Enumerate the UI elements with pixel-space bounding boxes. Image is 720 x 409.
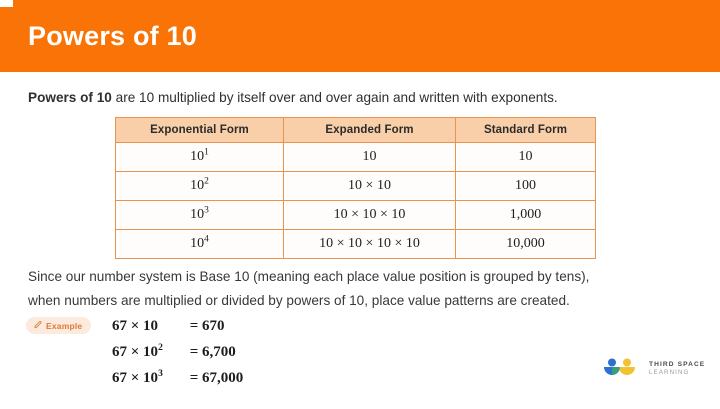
intro-bold-term: Powers of 10	[28, 90, 112, 105]
pencil-icon	[33, 321, 42, 330]
table-row: 101 10 10	[116, 143, 596, 172]
power-base: 10	[190, 207, 204, 222]
cell-exponential-form: 103	[116, 201, 284, 230]
equals-sign: =	[186, 370, 202, 387]
equation-result: 670	[202, 318, 225, 335]
equation-left-side: 67 × 102	[112, 344, 186, 361]
powers-of-ten-table: Exponential Form Expanded Form Standard …	[115, 117, 596, 259]
cell-exponential-form: 101	[116, 143, 284, 172]
third-space-learning-mark-icon	[601, 357, 643, 381]
intro-text: Powers of 10 are 10 multiplied by itself…	[28, 88, 698, 108]
power-exponent: 4	[204, 234, 209, 244]
table-header-row: Exponential Form Expanded Form Standard …	[116, 118, 596, 143]
cell-standard-form: 10,000	[456, 230, 596, 259]
page-title: Powers of 10	[28, 20, 197, 52]
power-exponent: 2	[204, 176, 209, 186]
cell-expanded-form: 10 × 10	[284, 172, 456, 201]
body-paragraph-line-2: when numbers are multiplied or divided b…	[28, 289, 708, 313]
page-header-bar: Powers of 10	[0, 0, 720, 72]
power-exponent: 3	[204, 205, 209, 215]
equation-lhs-base: 67 × 10	[112, 318, 158, 334]
equation-lhs-base: 67 × 10	[112, 370, 158, 386]
logo-wordmark: THIRD SPACE LEARNING	[649, 362, 705, 377]
column-header-expanded-form: Expanded Form	[284, 118, 456, 143]
power-base: 10	[190, 178, 204, 193]
cell-exponential-form: 104	[116, 230, 284, 259]
power-exponent: 1	[204, 147, 209, 157]
powers-table-container: Exponential Form Expanded Form Standard …	[115, 117, 595, 259]
equals-sign: =	[186, 344, 202, 361]
cell-standard-form: 1,000	[456, 201, 596, 230]
third-space-learning-logo: THIRD SPACE LEARNING	[601, 357, 705, 381]
example-badge-label: Example	[46, 321, 82, 331]
equation-lhs-exponent: 2	[158, 343, 163, 353]
equals-sign: =	[186, 318, 202, 335]
example-badge: Example	[26, 317, 91, 334]
cell-exponential-form: 102	[116, 172, 284, 201]
table-row: 103 10 × 10 × 10 1,000	[116, 201, 596, 230]
power-base: 10	[190, 236, 204, 251]
equation-left-side: 67 × 103	[112, 370, 186, 387]
intro-rest-text: are 10 multiplied by itself over and ove…	[112, 90, 558, 105]
example-equations: 67 × 10 = 670 67 × 102 = 6,700 67 × 103 …	[112, 318, 243, 396]
cell-standard-form: 10	[456, 143, 596, 172]
equation-row: 67 × 102 = 6,700	[112, 344, 243, 370]
logo-line-2: LEARNING	[649, 370, 705, 376]
equation-row: 67 × 103 = 67,000	[112, 370, 243, 396]
cell-expanded-form: 10	[284, 143, 456, 172]
equation-lhs-base: 67 × 10	[112, 344, 158, 360]
cell-expanded-form: 10 × 10 × 10 × 10	[284, 230, 456, 259]
logo-line-1: THIRD SPACE	[649, 362, 705, 369]
equation-row: 67 × 10 = 670	[112, 318, 243, 344]
header-corner-notch	[0, 0, 13, 7]
body-paragraph-line-1: Since our number system is Base 10 (mean…	[28, 265, 708, 289]
cell-standard-form: 100	[456, 172, 596, 201]
column-header-standard-form: Standard Form	[456, 118, 596, 143]
equation-result: 6,700	[202, 344, 236, 361]
table-row: 102 10 × 10 100	[116, 172, 596, 201]
column-header-exponential-form: Exponential Form	[116, 118, 284, 143]
equation-lhs-exponent: 3	[158, 369, 163, 379]
table-row: 104 10 × 10 × 10 × 10 10,000	[116, 230, 596, 259]
equation-result: 67,000	[202, 370, 243, 387]
equation-left-side: 67 × 10	[112, 318, 186, 335]
power-base: 10	[190, 149, 204, 164]
body-paragraph: Since our number system is Base 10 (mean…	[28, 265, 708, 313]
cell-expanded-form: 10 × 10 × 10	[284, 201, 456, 230]
